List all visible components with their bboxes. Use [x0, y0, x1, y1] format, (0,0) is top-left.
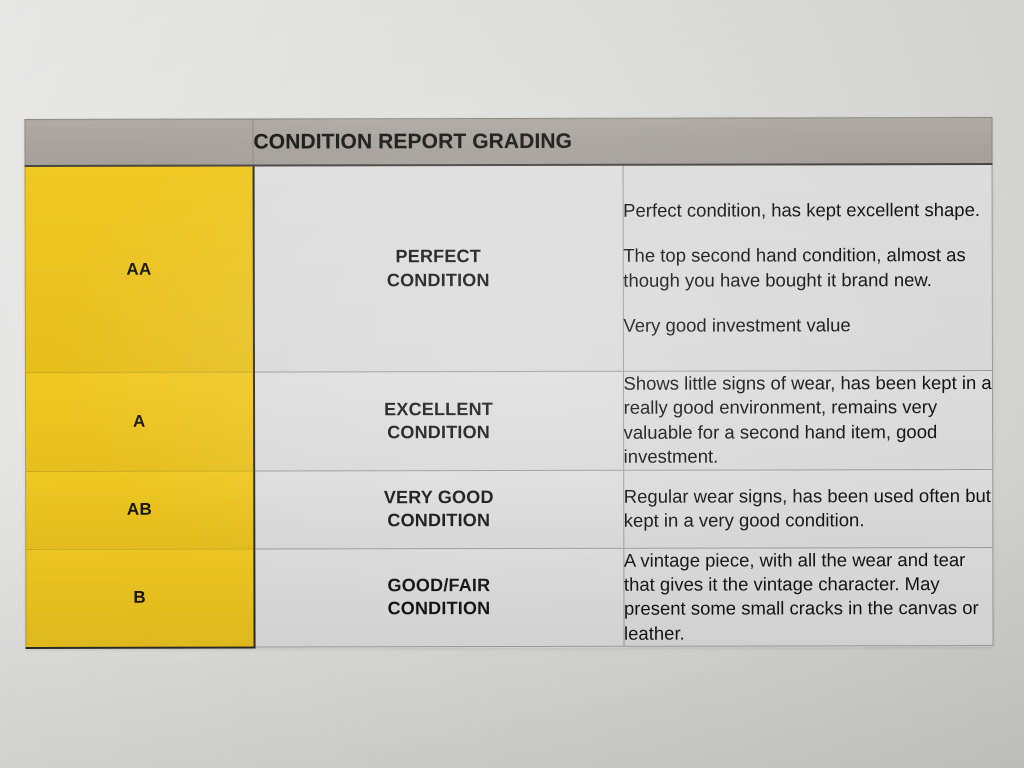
description-paragraph: Perfect condition, has kept excellent sh… [623, 198, 992, 223]
grade-label-line2: CONDITION [387, 510, 490, 530]
description-paragraph: Shows little signs of wear, has been kep… [623, 371, 992, 469]
header-spacer-cell [25, 119, 253, 166]
grade-description-a: Shows little signs of wear, has been kep… [623, 370, 993, 469]
table-row: AB VERY GOOD CONDITION Regular wear sign… [26, 469, 993, 549]
grade-label-line2: CONDITION [387, 270, 490, 290]
grade-code-b: B [26, 549, 254, 648]
description-paragraph: A vintage piece, with all the wear and t… [624, 548, 993, 646]
grade-label-aa: PERFECT CONDITION [253, 165, 623, 372]
grade-label-line1: PERFECT [396, 247, 481, 267]
table-row: AA PERFECT CONDITION Perfect condition, … [25, 164, 992, 373]
condition-report-grading-table: CONDITION REPORT GRADING AA PERFECT COND… [24, 117, 993, 649]
grade-label-line2: CONDITION [387, 422, 490, 442]
table-row: A EXCELLENT CONDITION Shows little signs… [25, 370, 992, 471]
document-page: CONDITION REPORT GRADING AA PERFECT COND… [0, 0, 1024, 768]
grade-label-line2: CONDITION [388, 598, 491, 618]
grade-label-line1: GOOD/FAIR [387, 575, 490, 595]
table-header-row: CONDITION REPORT GRADING [25, 117, 992, 166]
grade-description-ab: Regular wear signs, has been used often … [623, 469, 993, 548]
grade-code-aa: AA [25, 166, 253, 373]
grade-label-b: GOOD/FAIR CONDITION [254, 548, 624, 647]
grade-label-a: EXCELLENT CONDITION [253, 371, 623, 470]
description-paragraph: Regular wear signs, has been used often … [624, 484, 993, 534]
grade-description-b: A vintage piece, with all the wear and t… [623, 547, 993, 646]
grade-label-line1: VERY GOOD [384, 487, 494, 507]
description-paragraph: Very good investment value [623, 313, 992, 338]
page-title: CONDITION REPORT GRADING [253, 117, 992, 165]
table-row: B GOOD/FAIR CONDITION A vintage piece, w… [26, 547, 993, 648]
grade-label-ab: VERY GOOD CONDITION [254, 470, 624, 549]
description-paragraph: The top second hand condition, almost as… [623, 243, 992, 293]
grade-code-a: A [25, 372, 253, 471]
grade-description-aa: Perfect condition, has kept excellent sh… [623, 164, 993, 371]
grade-label-line1: EXCELLENT [384, 399, 493, 419]
grade-code-ab: AB [26, 471, 254, 549]
